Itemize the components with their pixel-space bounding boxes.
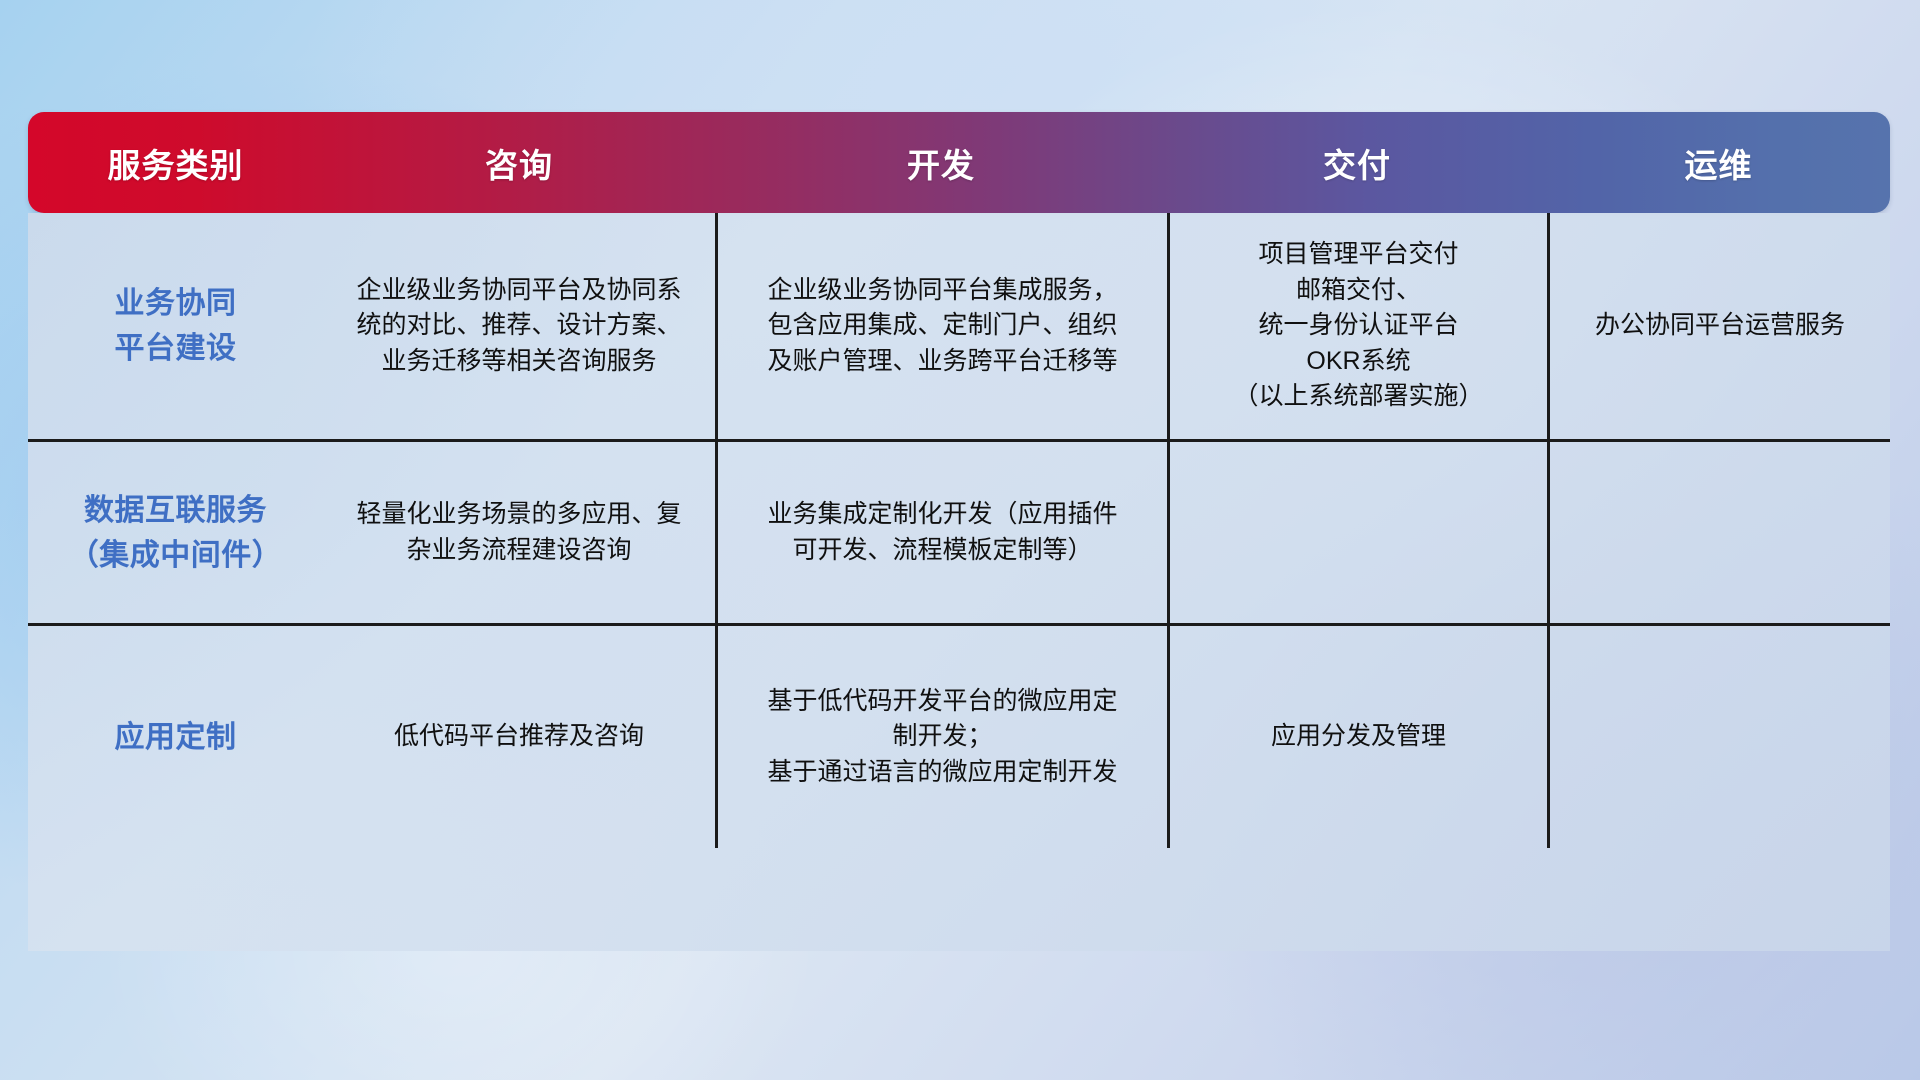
table-row: 数据互联服务 （集成中间件） 轻量化业务场景的多应用、复 杂业务流程建设咨询 业… — [28, 439, 1890, 623]
cell-category: 应用定制 — [28, 626, 323, 848]
cell-category: 业务协同 平台建设 — [28, 213, 323, 439]
cell-consulting: 企业级业务协同平台及协同系 统的对比、推荐、设计方案、 业务迁移等相关咨询服务 — [323, 213, 715, 439]
table-row: 应用定制 低代码平台推荐及咨询 基于低代码开发平台的微应用定 制开发； 基于通过… — [28, 623, 1890, 848]
table-body: 业务协同 平台建设 企业级业务协同平台及协同系 统的对比、推荐、设计方案、 业务… — [28, 213, 1890, 951]
cell-delivery: 项目管理平台交付 邮箱交付、 统一身份认证平台 OKR系统 （以上系统部署实施） — [1167, 213, 1547, 439]
cell-category: 数据互联服务 （集成中间件） — [28, 442, 323, 623]
cell-development: 企业级业务协同平台集成服务， 包含应用集成、定制门户、组织 及账户管理、业务跨平… — [715, 213, 1167, 439]
cell-consulting: 轻量化业务场景的多应用、复 杂业务流程建设咨询 — [323, 442, 715, 623]
cell-delivery: 应用分发及管理 — [1167, 626, 1547, 848]
table-header-row: 服务类别 咨询 开发 交付 运维 — [28, 112, 1890, 213]
service-category-table: 服务类别 咨询 开发 交付 运维 业务协同 平台建设 企业级业务协同平台及协同系… — [28, 112, 1890, 952]
cell-operations: 办公协同平台运营服务 — [1547, 213, 1890, 439]
cell-development: 基于低代码开发平台的微应用定 制开发； 基于通过语言的微应用定制开发 — [715, 626, 1167, 848]
cell-operations — [1547, 626, 1890, 848]
column-header-consulting: 咨询 — [323, 139, 715, 187]
column-header-development: 开发 — [715, 139, 1167, 187]
cell-operations — [1547, 442, 1890, 623]
column-header-delivery: 交付 — [1167, 139, 1547, 187]
column-header-operations: 运维 — [1547, 139, 1890, 187]
cell-development: 业务集成定制化开发（应用插件 可开发、流程模板定制等） — [715, 442, 1167, 623]
table-row: 业务协同 平台建设 企业级业务协同平台及协同系 统的对比、推荐、设计方案、 业务… — [28, 213, 1890, 439]
column-header-category: 服务类别 — [28, 139, 323, 187]
cell-consulting: 低代码平台推荐及咨询 — [323, 626, 715, 848]
cell-delivery — [1167, 442, 1547, 623]
